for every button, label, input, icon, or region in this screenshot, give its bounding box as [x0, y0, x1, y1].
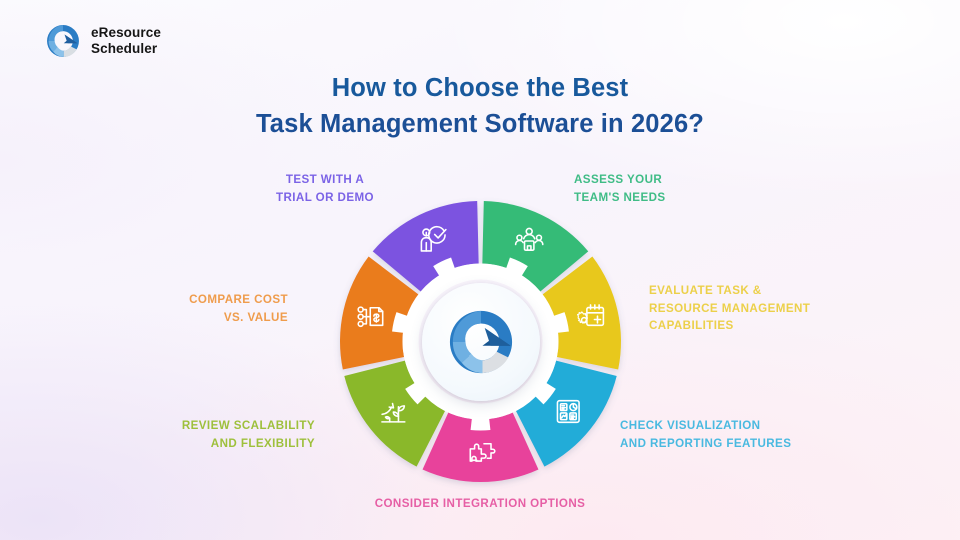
infographic-canvas: eResource Scheduler How to Choose the Be… [0, 0, 960, 540]
step-label-evaluate: EVALUATE TASK & RESOURCE MANAGEMENT CAPA… [649, 282, 864, 335]
collar-notch-consider [471, 417, 491, 430]
step-label-review: REVIEW SCALABILITY AND FLEXIBILITY [125, 417, 315, 452]
page-title: How to Choose the Best Task Management S… [0, 70, 960, 142]
seven-step-wheel [340, 201, 621, 482]
brand-logo: eResource Scheduler [44, 22, 161, 60]
wheel-center-hub [422, 283, 540, 401]
title-line-2: Task Management Software in 2026? [256, 110, 704, 138]
eresource-e-mark-icon [44, 22, 82, 60]
step-label-check: CHECK VISUALIZATION AND REPORTING FEATUR… [620, 417, 845, 452]
title-line-1: How to Choose the Best [332, 74, 629, 102]
brand-name: eResource Scheduler [91, 25, 161, 57]
step-label-trial: TEST WITH A TRIAL OR DEMO [245, 171, 405, 206]
step-label-assess: ASSESS YOUR TEAM'S NEEDS [574, 171, 744, 206]
step-label-compare: COMPARE COST VS. VALUE [120, 291, 288, 326]
eresource-e-mark-icon [444, 305, 518, 379]
wheel-segment-review[interactable] [344, 361, 445, 467]
step-label-consider: CONSIDER INTEGRATION OPTIONS [330, 495, 630, 513]
